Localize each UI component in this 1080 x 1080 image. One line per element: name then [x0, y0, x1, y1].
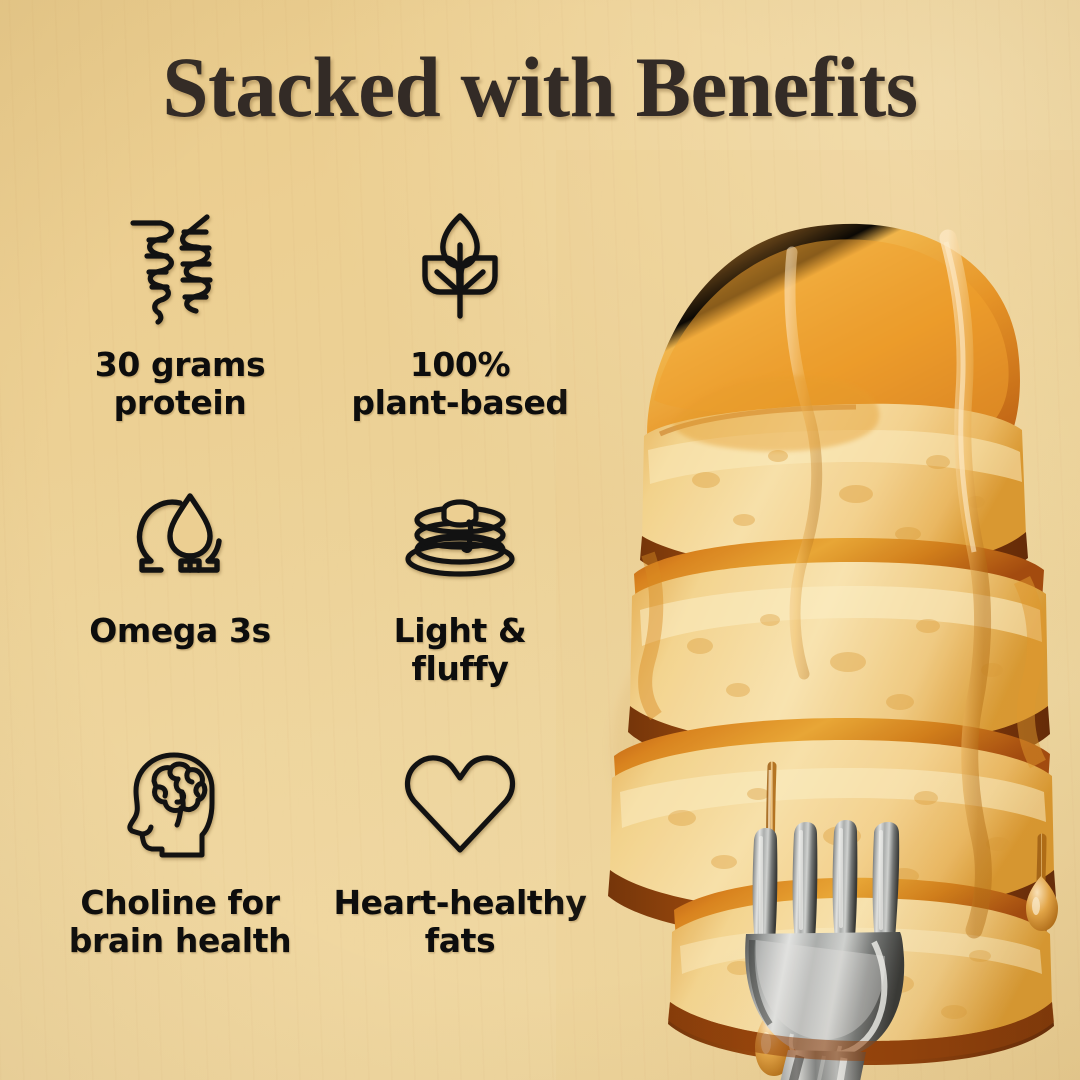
benefit-label-protein: 30 grams protein [95, 346, 265, 421]
pancake-bottom [668, 878, 1054, 1065]
benefits-grid: 30 grams protein 100% plant-based [40, 196, 600, 1006]
benefit-item-heart-healthy-fats: Heart-healthy fats [320, 736, 600, 1006]
pancake-3 [608, 718, 1056, 941]
benefit-item-omega-3s: Omega 3s [40, 466, 320, 736]
page-title: Stacked with Benefits [19, 44, 1061, 130]
syrup-glaze [645, 238, 1038, 930]
benefit-item-plant-based: 100% plant-based [320, 196, 600, 466]
benefit-label-heart-healthy-fats: Heart-healthy fats [333, 884, 586, 959]
head-brain-icon [124, 740, 236, 870]
plant-sprig-icon [407, 200, 513, 332]
fork [745, 820, 904, 1080]
pancake-top [640, 224, 1028, 596]
pancake-stack-icon [399, 470, 521, 598]
benefits-infographic: Stacked with Benefits [0, 0, 1080, 1080]
benefit-label-plant-based: 100% plant-based [351, 346, 568, 421]
benefit-item-protein: 30 grams protein [40, 196, 320, 466]
omega-droplet-icon [128, 470, 232, 598]
benefit-label-omega-3s: Omega 3s [89, 612, 271, 650]
benefit-item-choline: Choline for brain health [40, 736, 320, 1006]
syrup-drip-left [755, 766, 793, 1076]
benefit-item-light-fluffy: Light & fluffy [320, 466, 600, 736]
syrup-drip-right [1026, 838, 1058, 931]
pancake-2 [628, 538, 1050, 777]
heart-icon [402, 740, 518, 870]
benefit-label-choline: Choline for brain health [69, 884, 291, 959]
pancake-stack-on-fork-photo [556, 150, 1080, 1080]
dna-helix-icon [126, 200, 234, 332]
benefit-label-light-fluffy: Light & fluffy [394, 612, 527, 687]
